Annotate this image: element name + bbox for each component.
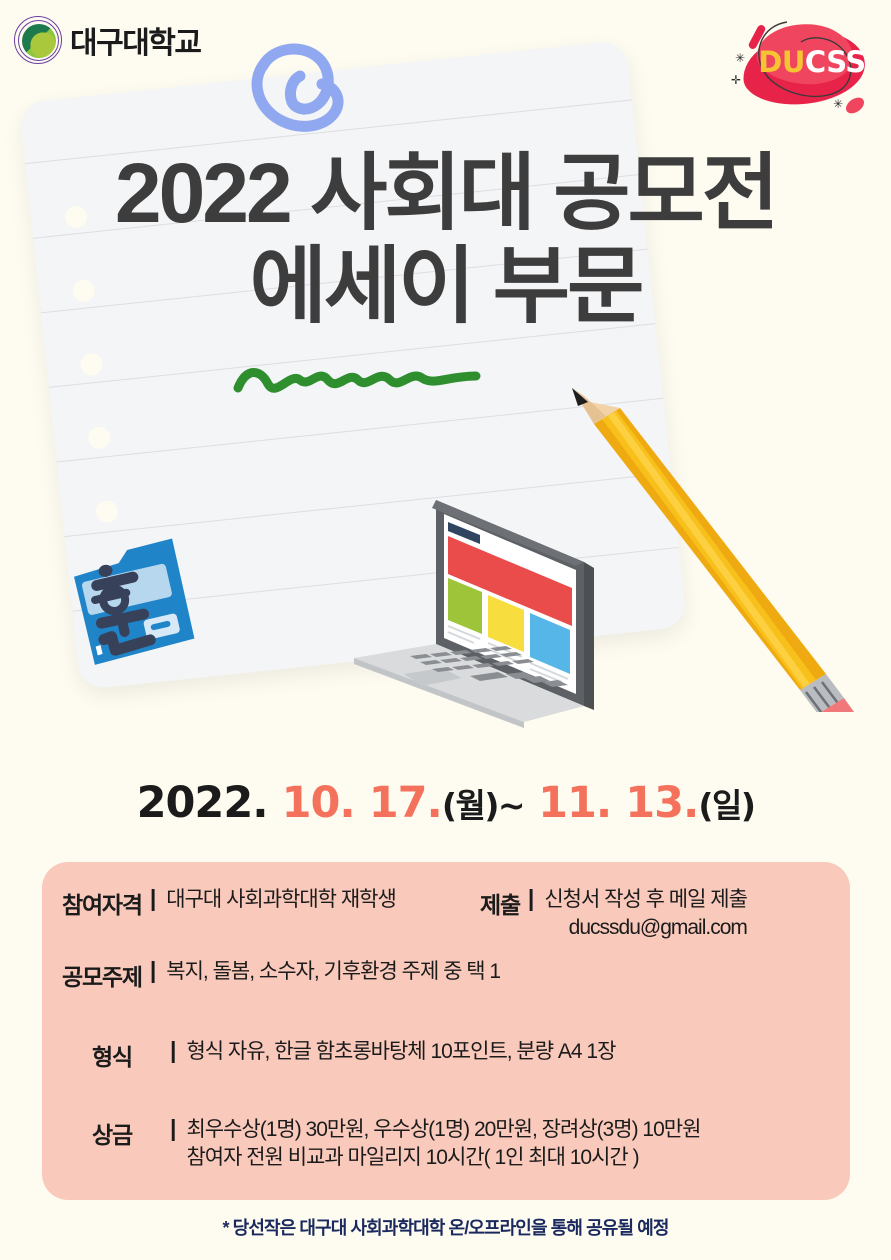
logo-sparkle-small-icon: ✳	[833, 98, 843, 110]
logo-plus-icon: ✛	[731, 74, 741, 86]
university-name: 대구대학교	[70, 18, 201, 62]
submission-email[interactable]: ducssdu@gmail.com	[544, 914, 747, 942]
date-end-day: (일)	[698, 786, 754, 825]
qualification-divider: |	[150, 886, 156, 911]
info-row-format: 형식 | 형식 자유, 한글 함초롱바탕체 10포인트, 분량 A4 1장	[62, 1038, 615, 1072]
club-logo-wordmark: DUCSS	[757, 48, 867, 77]
info-row-topic: 공모주제 | 복지, 돌봄, 소수자, 기후환경 주제 중 택 1	[62, 958, 500, 992]
info-panel: 참여자격 | 대구대 사회과학대학 재학생 제출 | 신청서 작성 후 메일 제…	[42, 862, 850, 1200]
topic-value: 복지, 돌봄, 소수자, 기후환경 주제 중 택 1	[166, 958, 500, 986]
format-divider: |	[170, 1038, 176, 1063]
info-row-qualification: 참여자격 | 대구대 사회과학대학 재학생	[62, 886, 396, 920]
club-logo-du: DU	[758, 45, 805, 79]
submission-value-group: 신청서 작성 후 메일 제출 ducssdu@gmail.com	[544, 886, 747, 941]
topic-label: 공모주제	[62, 958, 142, 992]
prize-value-line-1: 최우수상(1명) 30만원, 우수상(1명) 20만원, 장려상(3명) 10만…	[186, 1116, 700, 1144]
green-squiggle-underline-icon	[232, 358, 482, 396]
submission-label: 제출	[480, 886, 520, 920]
hun-document-badge-icon	[60, 536, 202, 676]
prize-value-group: 최우수상(1명) 30만원, 우수상(1명) 20만원, 장려상(3명) 10만…	[186, 1116, 700, 1171]
club-logo-css: CSS	[805, 45, 866, 79]
date-end: 11. 13.	[538, 778, 698, 828]
daegu-university-seal-icon	[14, 16, 62, 64]
date-start-day: (월)~	[442, 786, 524, 825]
paperclip-icon	[240, 26, 360, 151]
qualification-label: 참여자격	[62, 886, 142, 920]
prize-value-line-2: 참여자 전원 비교과 마일리지 10시간( 1인 최대 10시간 )	[186, 1144, 700, 1172]
pencil-icon	[548, 382, 858, 712]
poster-canvas: 대구대학교 ✳ ✛ ✳ DUCSS	[0, 0, 891, 1260]
footer-note: * 당선작은 대구대 사회과학대학 온/오프라인을 통해 공유될 예정	[0, 1214, 891, 1240]
format-value: 형식 자유, 한글 함초롱바탕체 10포인트, 분량 A4 1장	[186, 1038, 615, 1066]
logo-sparkle-icon: ✳	[735, 52, 745, 64]
event-date: 2022. 10. 17.(월)~ 11. 13.(일)	[0, 778, 891, 828]
submission-divider: |	[528, 886, 534, 911]
info-row-prize: 상금 | 최우수상(1명) 30만원, 우수상(1명) 20만원, 장려상(3명…	[62, 1116, 700, 1171]
ducss-club-logo: ✳ ✛ ✳ DUCSS	[729, 8, 877, 128]
date-year: 2022.	[137, 778, 268, 828]
date-start: 10. 17.	[282, 778, 442, 828]
submission-value: 신청서 작성 후 메일 제출	[544, 886, 747, 914]
university-logo: 대구대학교	[14, 16, 201, 64]
format-label: 형식	[62, 1038, 162, 1072]
topic-divider: |	[150, 958, 156, 983]
prize-label: 상금	[62, 1116, 162, 1150]
qualification-value: 대구대 사회과학대학 재학생	[166, 886, 396, 914]
info-row-submission: 제출 | 신청서 작성 후 메일 제출 ducssdu@gmail.com	[480, 886, 747, 941]
prize-divider: |	[170, 1116, 176, 1141]
